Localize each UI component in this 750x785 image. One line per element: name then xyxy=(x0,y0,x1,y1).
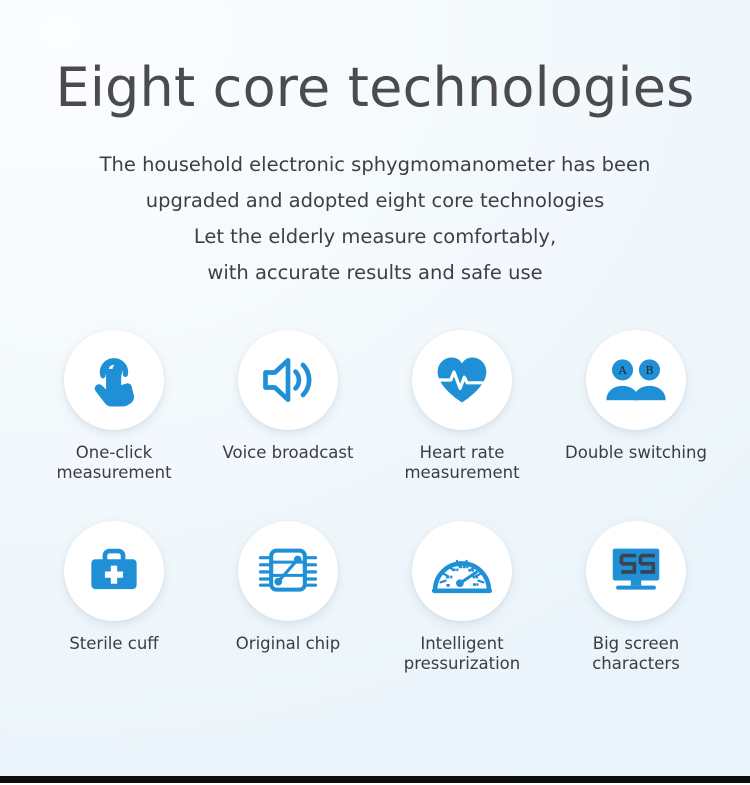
subtitle-line-1: The household electronic sphygmomanomete… xyxy=(0,147,750,183)
subtitle-line-2: upgraded and adopted eight core technolo… xyxy=(0,183,750,219)
feature-icon-circle xyxy=(586,521,686,621)
feature-label: Original chip xyxy=(236,634,340,654)
feature-big-screen-characters[interactable]: Big screen characters xyxy=(549,521,723,674)
touch-tap-icon xyxy=(83,349,145,411)
feature-label: Sterile cuff xyxy=(69,634,158,654)
monitor-display-icon xyxy=(605,544,667,598)
feature-icon-circle: A B xyxy=(586,330,686,430)
feature-heart-rate-measurement[interactable]: Heart rate measurement xyxy=(375,330,549,483)
feature-label: Big screen characters xyxy=(592,634,680,674)
microchip-icon xyxy=(257,543,319,599)
feature-intelligent-pressurization[interactable]: Intelligent pressurization xyxy=(375,521,549,674)
page-subtitle: The household electronic sphygmomanomete… xyxy=(0,147,750,291)
feature-icon-circle xyxy=(64,330,164,430)
speaker-volume-icon xyxy=(258,350,318,410)
feature-sterile-cuff[interactable]: Sterile cuff xyxy=(27,521,201,654)
feature-double-switching[interactable]: A B Double switching xyxy=(549,330,723,463)
subtitle-line-3: Let the elderly measure comfortably, xyxy=(0,219,750,255)
feature-one-click-measurement[interactable]: One-click measurement xyxy=(27,330,201,483)
two-users-ab-icon: A B xyxy=(604,354,668,406)
feature-label: Intelligent pressurization xyxy=(404,634,520,674)
feature-label: Heart rate measurement xyxy=(404,443,519,483)
user-b-letter: B xyxy=(645,364,653,377)
heart-pulse-icon xyxy=(432,350,492,410)
feature-icon-circle xyxy=(64,521,164,621)
feature-original-chip[interactable]: Original chip xyxy=(201,521,375,654)
feature-row-1: One-click measurement Voice broadcast xyxy=(0,330,750,483)
feature-label: Voice broadcast xyxy=(223,443,354,463)
page-title: Eight core technologies xyxy=(0,0,750,117)
promo-page: Eight core technologies The household el… xyxy=(0,0,750,785)
feature-icon-circle xyxy=(412,521,512,621)
feature-row-2: Sterile cuff xyxy=(0,521,750,674)
feature-icon-circle xyxy=(238,521,338,621)
medical-kit-icon xyxy=(85,542,143,600)
feature-label: One-click measurement xyxy=(56,443,171,483)
gauge-meter-icon xyxy=(430,544,494,598)
feature-label: Double switching xyxy=(565,443,707,463)
feature-voice-broadcast[interactable]: Voice broadcast xyxy=(201,330,375,463)
user-a-letter: A xyxy=(618,364,627,377)
feature-icon-circle xyxy=(238,330,338,430)
bottom-divider-bar xyxy=(0,776,750,783)
subtitle-line-4: with accurate results and safe use xyxy=(0,255,750,291)
feature-icon-circle xyxy=(412,330,512,430)
feature-grid: One-click measurement Voice broadcast xyxy=(0,330,750,674)
